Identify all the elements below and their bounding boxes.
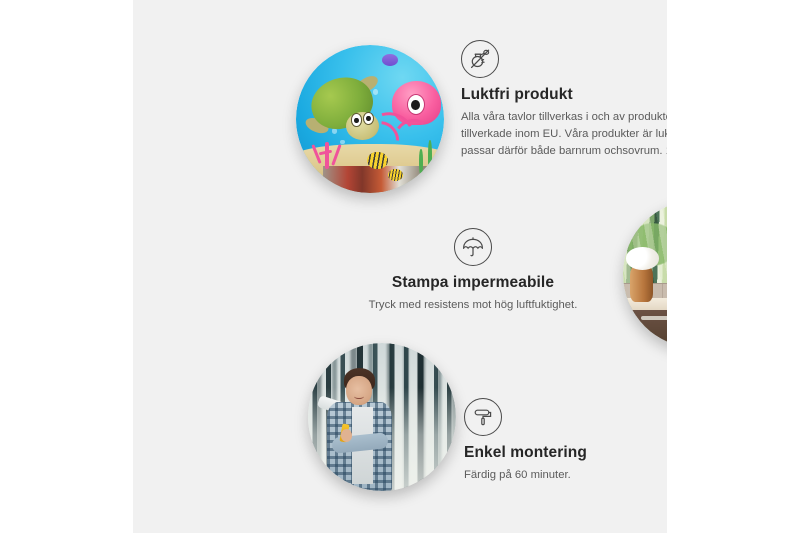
bubble-icon — [373, 89, 378, 94]
smile — [354, 393, 364, 398]
feature-waterproof: Stampa impermeabile Tryck med resistens … — [328, 228, 618, 314]
product-feature-panel: Luktfri produkt Alla våra tavlor tillver… — [133, 0, 667, 533]
octopus-eye — [407, 94, 425, 115]
feature-assembly: Enkel montering Färdig på 60 minuter. — [464, 398, 667, 484]
shipwreck-strip — [323, 166, 436, 193]
yellow-striped-fish — [388, 169, 403, 181]
wood-vanity-cabinet — [632, 310, 667, 348]
purple-fish — [382, 54, 398, 66]
underwater-cartoon-photo — [296, 45, 444, 193]
feature-title: Luktfri produkt — [461, 86, 667, 104]
white-flowers — [626, 247, 659, 269]
umbrella-icon — [454, 228, 492, 266]
feature-description: Alla våra tavlor tillverkas i och av pro… — [461, 109, 667, 160]
feature-title: Stampa impermeabile — [328, 274, 618, 292]
feature-description: Färdig på 60 minuter. — [464, 467, 667, 484]
feature-title: Enkel montering — [464, 444, 667, 462]
no-fragrance-bottle-icon — [461, 40, 499, 78]
feature-odourless: Luktfri produkt Alla våra tavlor tillver… — [461, 40, 667, 160]
bathroom-vanity-photo — [623, 200, 667, 348]
face — [346, 376, 371, 406]
woman-decorator-forest-photo — [308, 343, 456, 491]
paint-roller-icon — [464, 398, 502, 436]
yellow-striped-fish — [367, 152, 388, 170]
pink-coral — [308, 131, 346, 169]
feature-description: Tryck med resistens mot hög luftfuktighe… — [328, 297, 618, 314]
screenshot-stage: Luktfri produkt Alla våra tavlor tillver… — [0, 0, 800, 533]
